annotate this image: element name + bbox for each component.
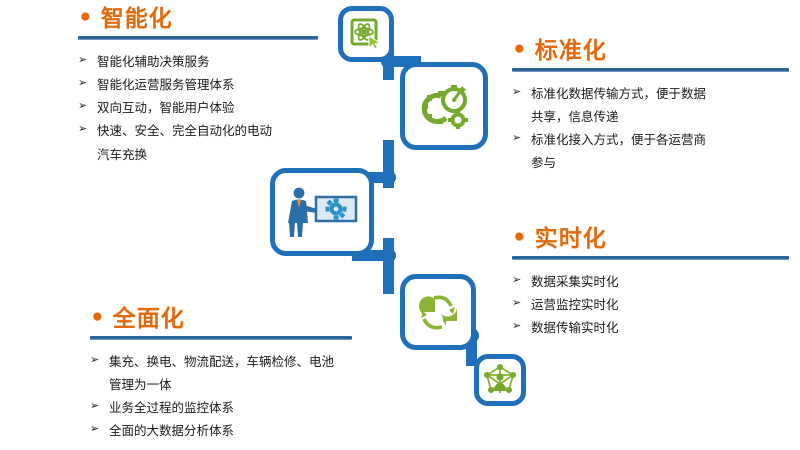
heading-bullet-icon: • <box>512 227 528 250</box>
section-realtime-title: 实时化 <box>535 228 607 251</box>
list-item: 快速、安全、完全自动化的电动 汽车充换 <box>78 119 328 165</box>
atom-screen-cursor-icon <box>349 17 383 51</box>
section-comprehensive-title: 全面化 <box>113 308 185 331</box>
network-person-icon <box>483 363 517 397</box>
list-item: 数据传输实时化 <box>512 316 792 339</box>
node-atom-screen-cursor[interactable] <box>338 6 394 62</box>
section-realtime-rule <box>512 256 789 260</box>
section-comprehensive-heading: • 全面化 <box>90 308 390 331</box>
section-standardized-rule <box>512 68 789 72</box>
section-intelligent: • 智能化 智能化辅助决策服务 智能化运营服务管理体系 双向互动，智能用户体验 … <box>78 8 328 166</box>
connector-5 <box>383 238 394 294</box>
heading-bullet-icon: • <box>90 307 106 330</box>
heads-exchange-arrows-icon <box>413 289 463 335</box>
section-standardized: • 标准化 标准化数据传输方式，便于数据 共享，信息传递 标准化接入方式，便于各… <box>512 40 792 175</box>
list-item: 智能化辅助决策服务 <box>78 50 328 73</box>
list-item: 标准化数据传输方式，便于数据 共享，信息传递 <box>512 82 792 128</box>
list-item: 全面的大数据分析体系 <box>90 419 390 442</box>
section-intelligent-rule <box>78 36 318 40</box>
section-comprehensive: • 全面化 集充、换电、物流配送，车辆检修、电池 管理为一体 业务全过程的监控体… <box>90 308 390 443</box>
presenter-whiteboard-gear-icon <box>284 185 360 239</box>
node-presenter-whiteboard[interactable] <box>270 168 374 256</box>
connector-knot-2 <box>381 170 396 185</box>
list-item: 标准化接入方式，便于各运营商 参与 <box>512 128 792 174</box>
section-standardized-heading: • 标准化 <box>512 40 792 63</box>
list-item: 集充、换电、物流配送，车辆检修、电池 管理为一体 <box>90 350 390 396</box>
list-item: 业务全过程的监控体系 <box>90 396 390 419</box>
node-heads-exchange[interactable] <box>400 274 476 350</box>
section-intelligent-heading: • 智能化 <box>78 8 328 31</box>
infographic-canvas: • 智能化 智能化辅助决策服务 智能化运营服务管理体系 双向互动，智能用户体验 … <box>0 0 800 450</box>
section-comprehensive-list: 集充、换电、物流配送，车辆检修、电池 管理为一体 业务全过程的监控体系 全面的大… <box>90 350 390 443</box>
list-item: 运营监控实时化 <box>512 293 792 316</box>
list-item: 双向互动，智能用户体验 <box>78 96 328 119</box>
section-realtime-heading: • 实时化 <box>512 228 792 251</box>
list-item: 智能化运营服务管理体系 <box>78 73 328 96</box>
section-realtime: • 实时化 数据采集实时化 运营监控实时化 数据传输实时化 <box>512 228 792 339</box>
list-item: 数据采集实时化 <box>512 270 792 293</box>
section-intelligent-list: 智能化辅助决策服务 智能化运营服务管理体系 双向互动，智能用户体验 快速、安全、… <box>78 50 328 166</box>
heading-bullet-icon: • <box>512 39 528 62</box>
section-standardized-title: 标准化 <box>535 40 607 63</box>
node-gears-stopwatch[interactable] <box>400 62 488 150</box>
heading-bullet-icon: • <box>78 7 94 30</box>
node-network-person[interactable] <box>474 354 526 406</box>
section-standardized-list: 标准化数据传输方式，便于数据 共享，信息传递 标准化接入方式，便于各运营商 参与 <box>512 82 792 175</box>
connector-knot-3 <box>381 248 396 263</box>
section-intelligent-title: 智能化 <box>101 8 173 31</box>
gears-stopwatch-icon <box>416 78 472 134</box>
section-comprehensive-rule <box>90 336 352 340</box>
section-realtime-list: 数据采集实时化 运营监控实时化 数据传输实时化 <box>512 270 792 339</box>
